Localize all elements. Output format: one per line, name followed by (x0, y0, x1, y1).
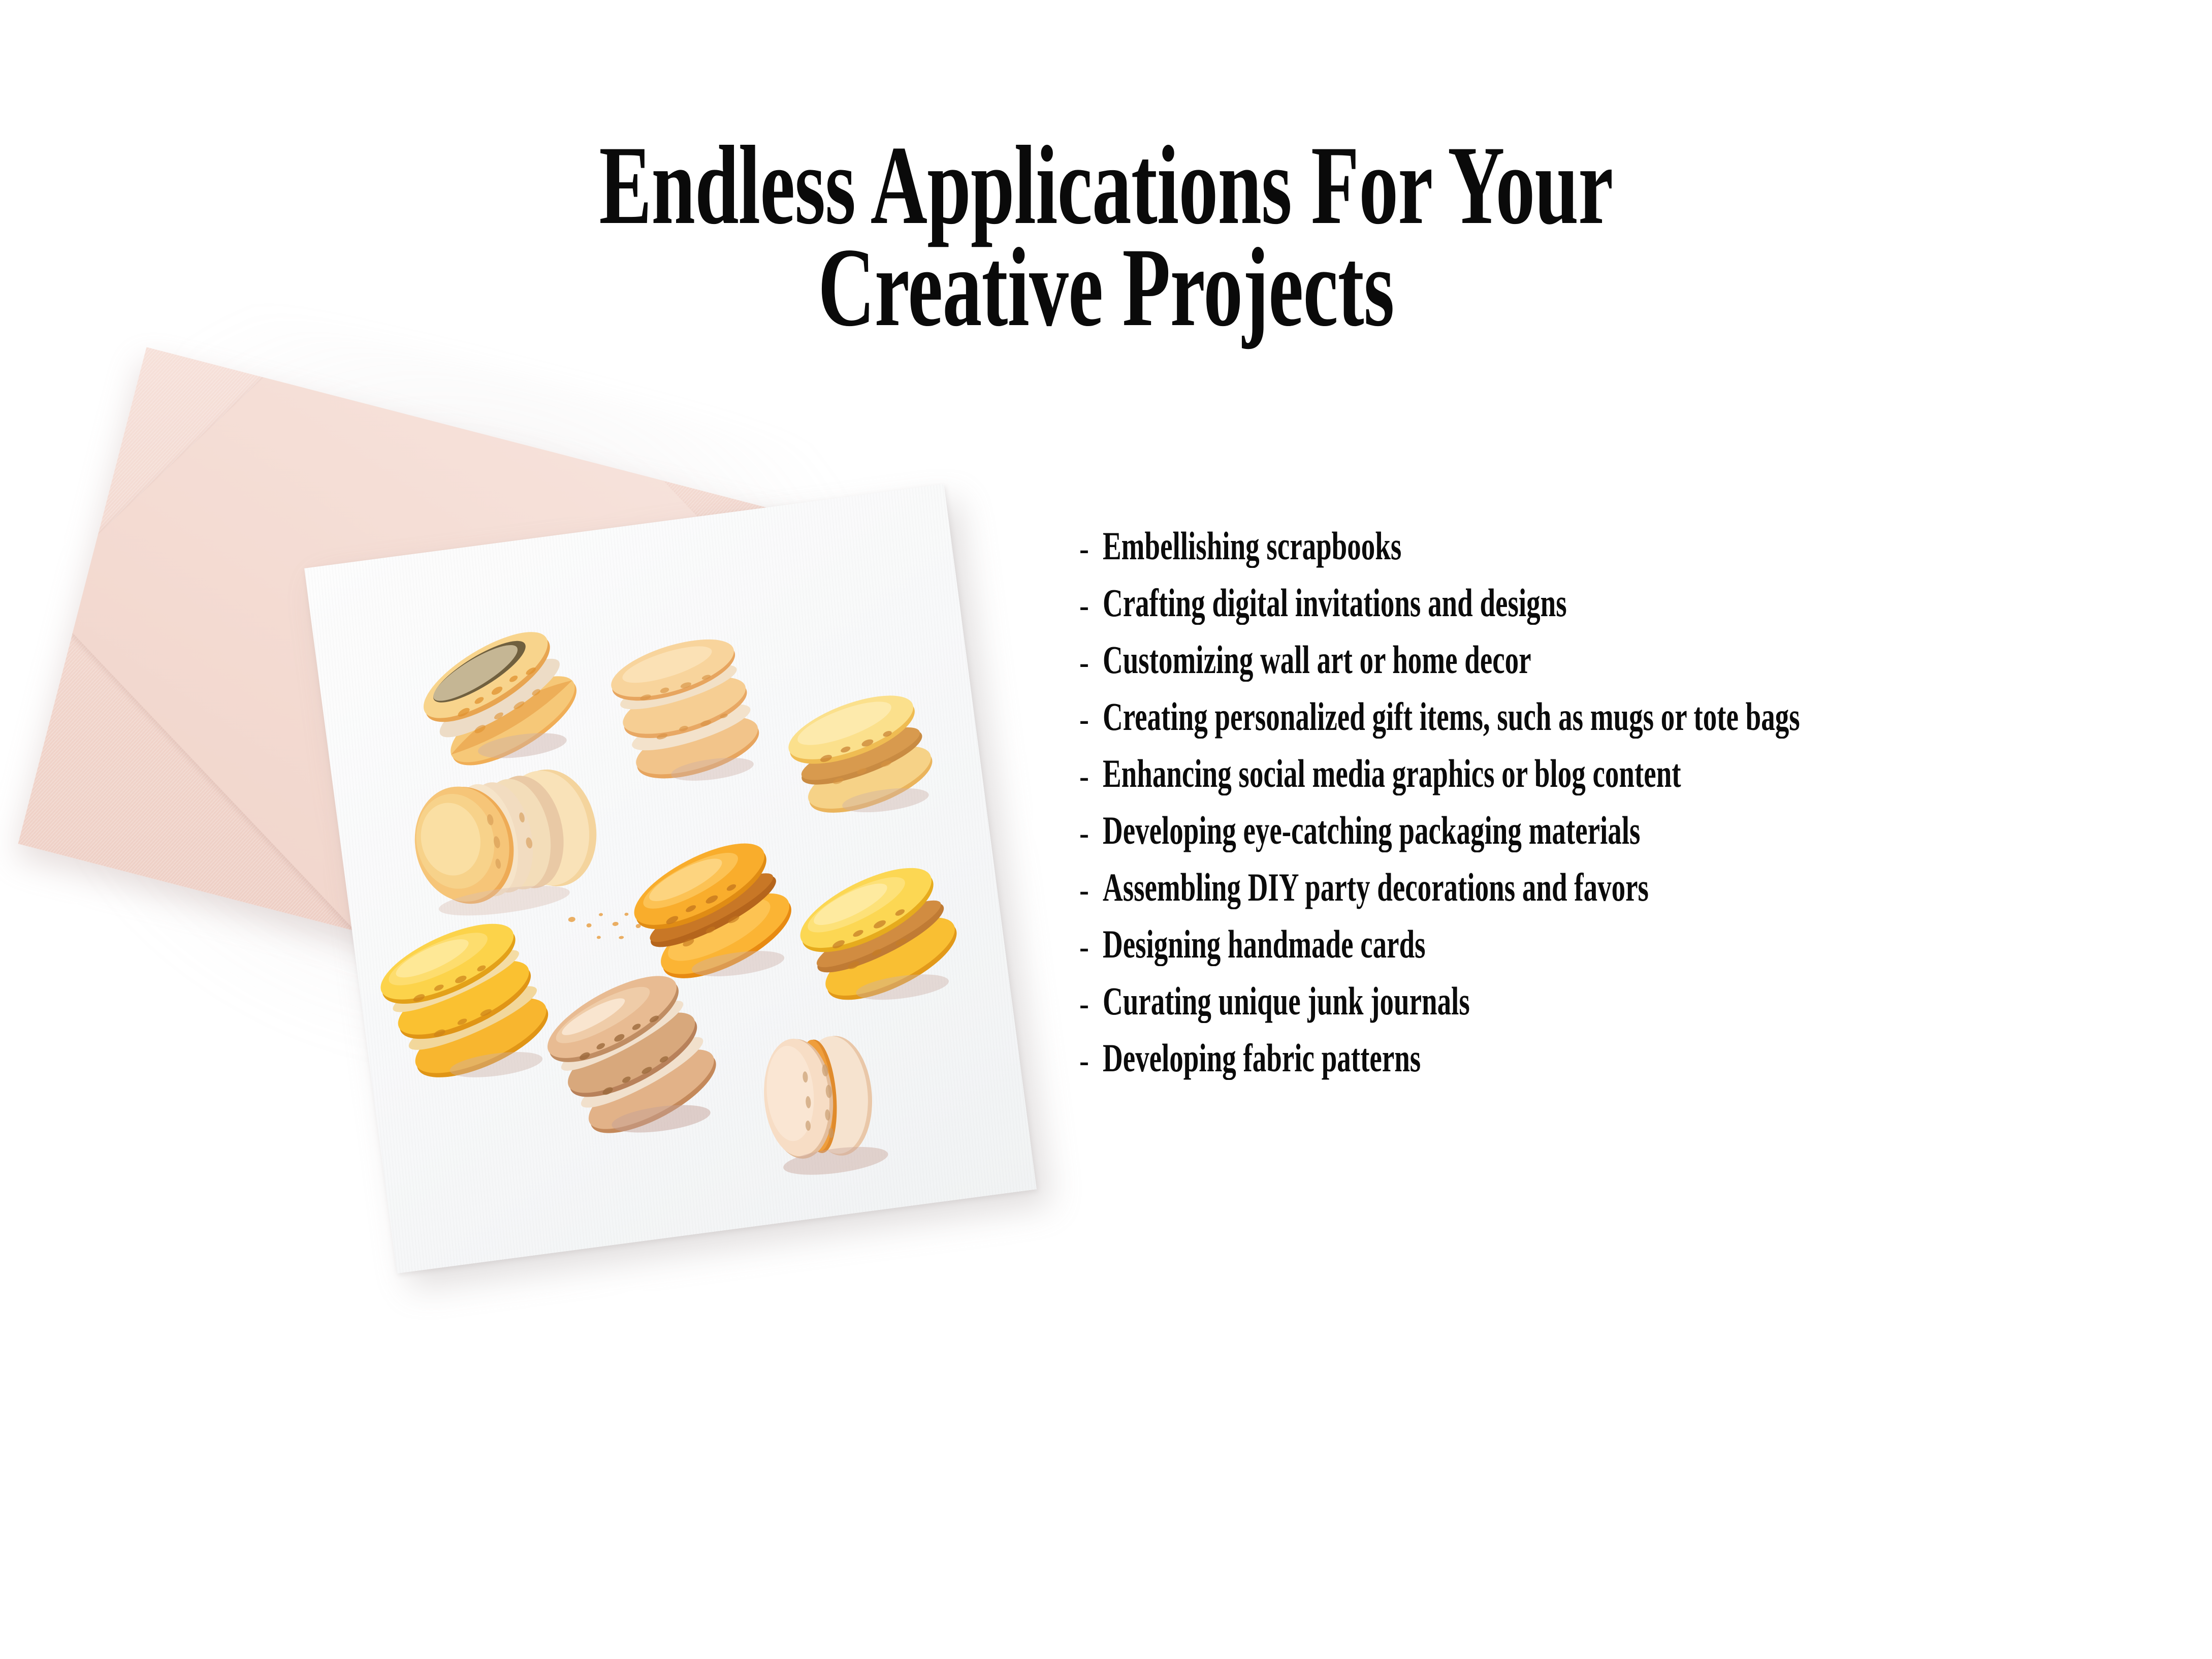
bullet-dash-icon: - (1079, 647, 1101, 679)
list-item-label: Developing eye-catching packaging materi… (1103, 811, 1640, 850)
list-item-label: Curating unique junk journals (1103, 981, 1470, 1021)
list-item: - Embellishing scrapbooks (1079, 526, 2212, 583)
list-item: - Enhancing social media graphics or blo… (1079, 754, 2212, 811)
list-item-label: Assembling DIY party decorations and fav… (1103, 868, 1649, 907)
bullet-dash-icon: - (1079, 1045, 1101, 1077)
macaron-pale-side (386, 747, 622, 927)
list-item: - Assembling DIY party decorations and f… (1079, 868, 2212, 924)
list-item-label: Crafting digital invitations and designs (1103, 583, 1567, 623)
list-item-label: Creating personalized gift items, such a… (1103, 697, 1800, 737)
bullet-dash-icon: - (1079, 875, 1101, 906)
macaron-golden-tilted (402, 605, 587, 774)
list-item-label: Developing fabric patterns (1103, 1038, 1421, 1078)
bullet-dash-icon: - (1079, 818, 1101, 849)
list-item-label: Designing handmade cards (1103, 924, 1426, 964)
list-item: - Developing eye-catching packaging mate… (1079, 811, 2212, 868)
title-line-1: Endless Applications For Your (332, 131, 1880, 240)
bullet-dash-icon: - (1079, 932, 1101, 963)
macaron-stacked-peach (602, 635, 773, 799)
applications-list: - Embellishing scrapbooks - Crafting dig… (1079, 526, 2212, 1095)
macaron-caramel-brown (540, 975, 734, 1149)
macaron-cream-upright (741, 1007, 903, 1187)
page-title: Endless Applications For Your Creative P… (0, 131, 2212, 343)
bullet-dash-icon: - (1079, 590, 1101, 622)
macaron-yellow-right (779, 839, 973, 1015)
list-item: - Customizing wall art or home decor (1079, 640, 2212, 697)
bullet-dash-icon: - (1079, 533, 1101, 565)
poster-canvas: Endless Applications For Your Creative P… (0, 0, 2212, 1659)
white-greeting-card (304, 484, 1037, 1273)
list-item: - Crafting digital invitations and desig… (1079, 583, 2212, 640)
macaron-lemon-caramel (771, 666, 946, 830)
product-mockup-photo (61, 356, 1107, 1554)
macaron-amber-left (372, 921, 565, 1095)
bullet-dash-icon: - (1079, 761, 1101, 792)
macaron-artwork (304, 484, 1037, 1273)
title-line-2: Creative Projects (332, 233, 1880, 342)
bullet-dash-icon: - (1079, 988, 1101, 1020)
list-item: - Developing fabric patterns (1079, 1038, 2212, 1095)
list-item: - Designing handmade cards (1079, 924, 2212, 981)
list-item-label: Embellishing scrapbooks (1103, 526, 1401, 566)
list-item-label: Enhancing social media graphics or blog … (1103, 754, 1681, 793)
list-item-label: Customizing wall art or home decor (1103, 640, 1531, 680)
list-item: - Curating unique junk journals (1079, 981, 2212, 1038)
list-item: - Creating personalized gift items, such… (1079, 697, 2212, 754)
bullet-dash-icon: - (1079, 704, 1101, 736)
